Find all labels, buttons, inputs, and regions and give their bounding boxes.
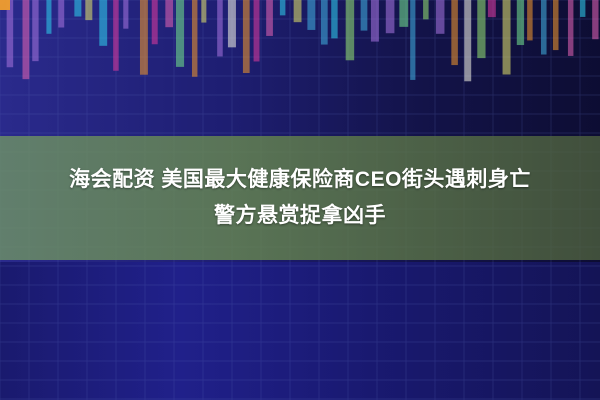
green-tint-band <box>0 0 600 400</box>
news-thumbnail: 海会配资 美国最大健康保险商CEO街头遇刺身亡 警方悬赏捉拿凶手 <box>0 0 600 400</box>
